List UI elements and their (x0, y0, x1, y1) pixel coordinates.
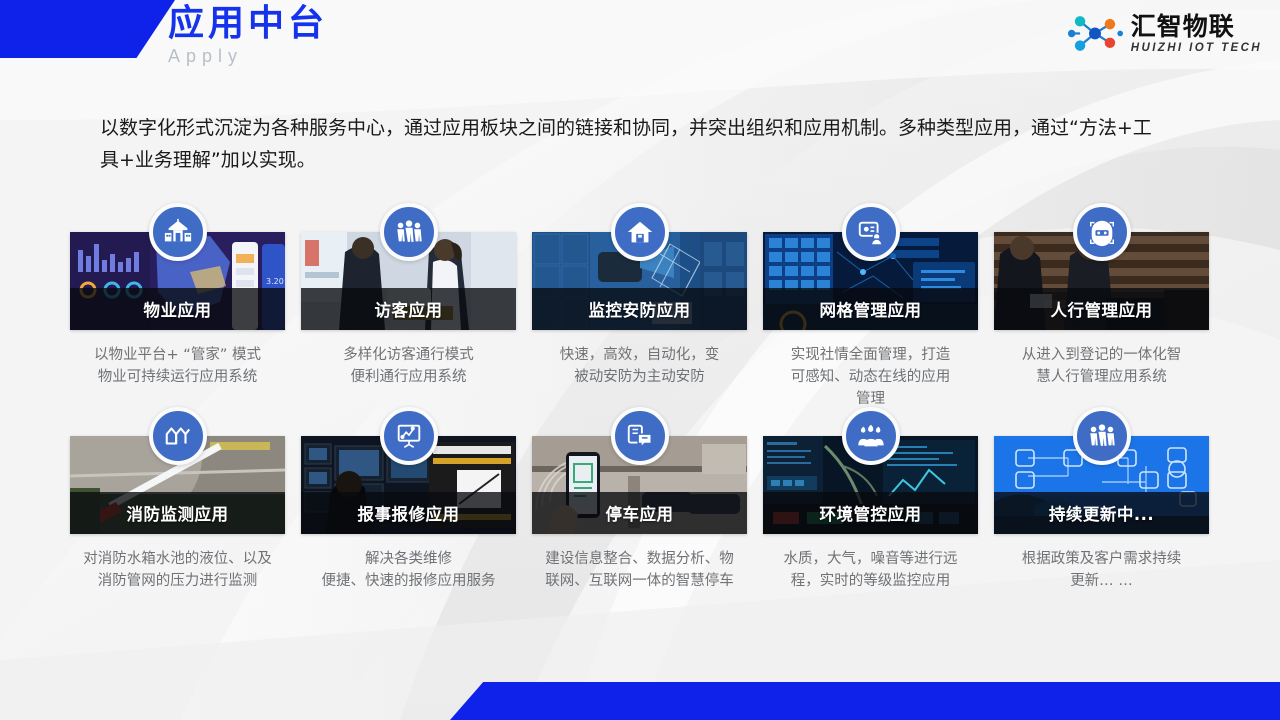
people-group-icon (1073, 407, 1131, 465)
card-caption: 解决各类维修 便捷、快速的报修应用服务 (301, 548, 516, 592)
card-label-band: 停车应用 (532, 492, 747, 534)
card-caption: 根据政策及客户需求持续 更新… … (994, 548, 1209, 592)
card-repair-report-app[interactable]: 报事报修应用 解决各类维修 便捷、快速的报修应用服务 (301, 436, 516, 592)
people-group-icon (380, 203, 438, 261)
svg-text:3.20: 3.20 (266, 277, 284, 286)
card-label: 持续更新中... (1049, 501, 1154, 525)
id-card-person-icon (842, 203, 900, 261)
card-visitor-app[interactable]: 访客应用 多样化访客通行模式 便利通行应用系统 (301, 232, 516, 410)
card-continuous-update[interactable]: 持续更新中... 根据政策及客户需求持续 更新… … (994, 436, 1209, 592)
card-label: 报事报修应用 (358, 501, 460, 525)
card-caption: 水质，大气，噪音等进行远 程，实时的等级监控应用 (763, 548, 978, 592)
card-caption: 实现社情全面管理，打造 可感知、动态在线的应用 管理 (763, 344, 978, 410)
intro-paragraph: 以数字化形式沉淀为各种服务中心，通过应用板块之间的链接和协同，并突出组织和应用机… (100, 112, 1165, 176)
card-label-band: 报事报修应用 (301, 492, 516, 534)
card-caption: 从进入到登记的一体化智 慧人行管理应用系统 (994, 344, 1209, 388)
card-label-band: 物业应用 (70, 288, 285, 330)
chart-board-icon (380, 407, 438, 465)
page-title-block: 应用中台 Apply (168, 4, 328, 67)
card-label: 访客应用 (375, 297, 443, 321)
molecule-icon (1067, 12, 1123, 56)
card-row-2: 消防监测应用 对消防水箱水池的液位、以及 消防管网的压力进行监测 (70, 436, 1215, 592)
card-caption: 多样化访客通行模式 便利通行应用系统 (301, 344, 516, 388)
card-label-band: 访客应用 (301, 288, 516, 330)
card-label-band: 监控安防应用 (532, 288, 747, 330)
card-caption: 快速，高效，自动化，变 被动安防为主动安防 (532, 344, 747, 388)
card-label: 消防监测应用 (127, 501, 229, 525)
card-label-band: 环境管控应用 (763, 492, 978, 534)
card-caption: 对消防水箱水池的液位、以及 消防管网的压力进行监测 (70, 548, 285, 592)
card-surveillance-app[interactable]: 监控安防应用 快速，高效，自动化，变 被动安防为主动安防 (532, 232, 747, 410)
people-trio-icon (842, 407, 900, 465)
brand-logo: 汇智物联 HUIZHI IOT TECH (1067, 12, 1262, 56)
card-label: 人行管理应用 (1051, 297, 1153, 321)
card-caption: 以物业平台+ “管家” 模式 物业可持续运行应用系统 (70, 344, 285, 388)
brand-name-cn: 汇智物联 (1131, 14, 1262, 39)
card-label: 监控安防应用 (589, 297, 691, 321)
card-label-band: 持续更新中... (994, 492, 1209, 534)
card-label: 环境管控应用 (820, 501, 922, 525)
card-label: 物业应用 (144, 297, 212, 321)
card-grid-management-app[interactable]: 网格管理应用 实现社情全面管理，打造 可感知、动态在线的应用 管理 (763, 232, 978, 410)
card-property-app[interactable]: 3.20 物业应用 以物业平台+ “管家” 模式 物业可持续 (70, 232, 285, 410)
card-label-band: 消防监测应用 (70, 492, 285, 534)
card-caption: 建设信息整合、数据分析、物 联网、互联网一体的智慧停车 (532, 548, 747, 592)
application-card-grid: 3.20 物业应用 以物业平台+ “管家” 模式 物业可持续 (70, 232, 1215, 592)
card-environment-control-app[interactable]: 环境管控应用 水质，大气，噪音等进行远 程，实时的等级监控应用 (763, 436, 978, 592)
card-label-band: 人行管理应用 (994, 288, 1209, 330)
brand-name-en: HUIZHI IOT TECH (1131, 43, 1262, 55)
card-label: 停车应用 (606, 501, 674, 525)
card-fire-monitoring-app[interactable]: 消防监测应用 对消防水箱水池的液位、以及 消防管网的压力进行监测 (70, 436, 285, 592)
card-label: 网格管理应用 (820, 297, 922, 321)
card-label-band: 网格管理应用 (763, 288, 978, 330)
page-subtitle: Apply (168, 46, 328, 67)
footer-accent-bar (0, 682, 1280, 720)
card-row-1: 3.20 物业应用 以物业平台+ “管家” 模式 物业可持续 (70, 232, 1215, 410)
mobile-chat-icon (611, 407, 669, 465)
home-shield-icon (611, 203, 669, 261)
warehouse-roof-icon (149, 407, 207, 465)
face-recognition-icon (1073, 203, 1131, 261)
card-pedestrian-management-app[interactable]: 人行管理应用 从进入到登记的一体化智 慧人行管理应用系统 (994, 232, 1209, 410)
page-title: 应用中台 (168, 4, 328, 44)
footer-accent-shape (450, 682, 1280, 720)
card-parking-app[interactable]: 停车应用 建设信息整合、数据分析、物 联网、互联网一体的智慧停车 (532, 436, 747, 592)
house-community-icon (149, 203, 207, 261)
